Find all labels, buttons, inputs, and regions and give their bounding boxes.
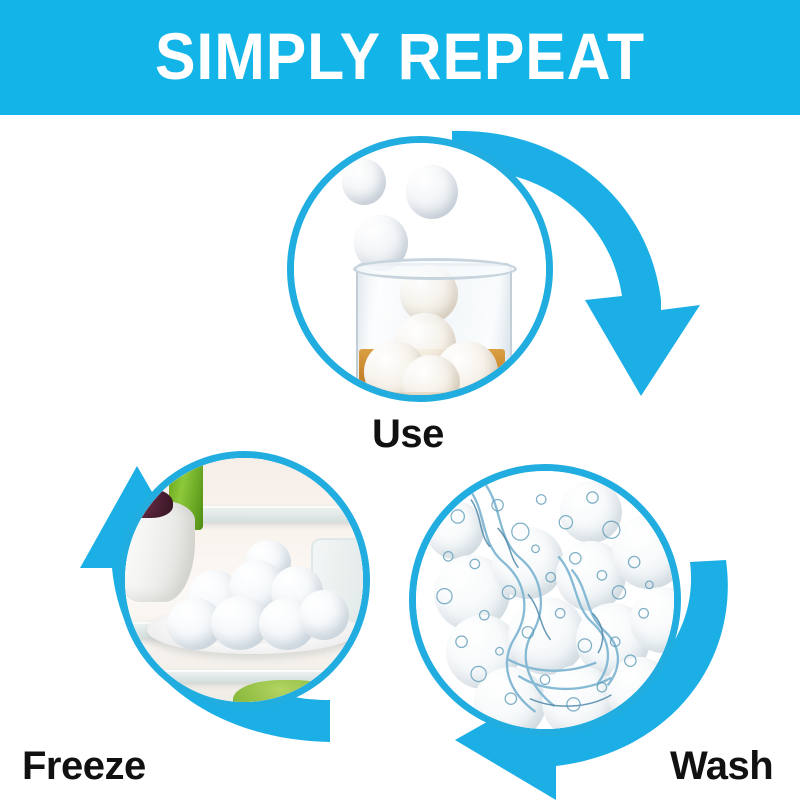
step-label-wash: Wash (670, 744, 773, 789)
whiskey-glass (356, 263, 508, 395)
infographic-page: SIMPLY REPEAT (0, 0, 800, 800)
ice-ball-on-plate (299, 590, 349, 640)
step-label-freeze: Freeze (22, 744, 146, 789)
water-splash (416, 471, 674, 729)
page-title: SIMPLY REPEAT (32, 0, 768, 115)
freeze-scene (125, 458, 363, 702)
ice-ball-floating (342, 159, 386, 205)
wash-scene (416, 471, 674, 729)
fridge-shelf (125, 670, 363, 682)
use-photo (294, 143, 546, 395)
step-label-use: Use (372, 412, 444, 457)
glass-rim (353, 258, 517, 280)
freeze-photo (125, 458, 363, 702)
ice-ball-floating (406, 165, 458, 219)
berries (125, 488, 173, 518)
step-circle-use[interactable] (287, 136, 553, 402)
step-circle-freeze[interactable] (118, 451, 370, 709)
use-scene (294, 143, 546, 395)
wash-photo (416, 471, 674, 729)
step-circle-wash[interactable] (409, 464, 681, 736)
glass-base (360, 392, 504, 395)
